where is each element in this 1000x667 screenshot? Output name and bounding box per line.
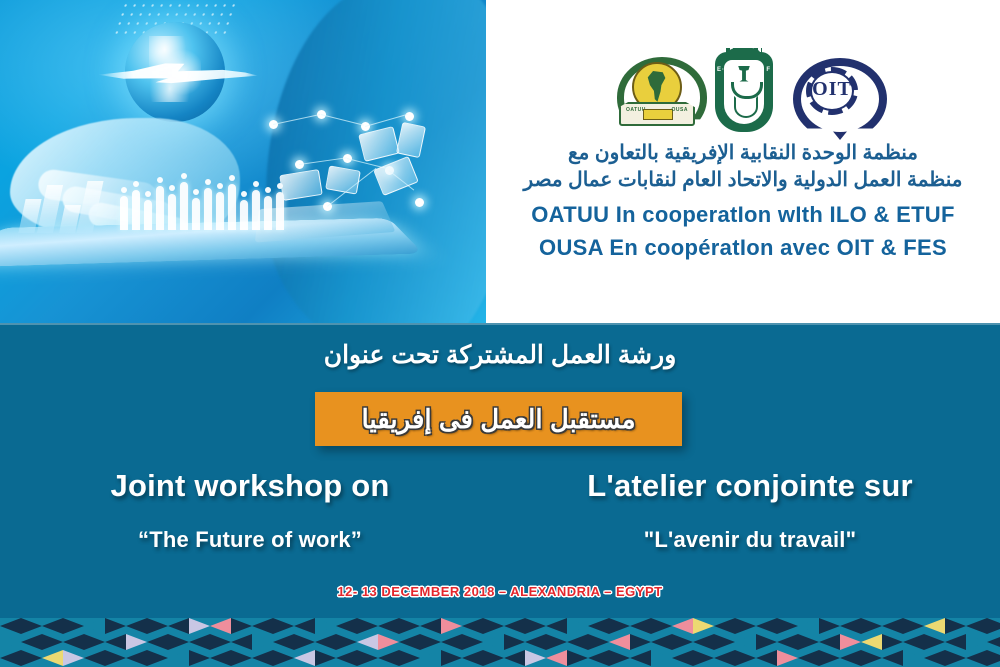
triangle-tile: [252, 618, 273, 634]
triangle-tile: [168, 650, 189, 666]
triangle-tile: [504, 618, 525, 634]
triangle-tile: [378, 618, 399, 634]
triangle-tile: [294, 634, 315, 650]
triangle-tile: [105, 650, 126, 666]
triangle-tile: [231, 650, 252, 666]
triangle-tile: [21, 650, 42, 666]
triangle-tile: [861, 618, 882, 634]
triangle-tile: [525, 634, 546, 650]
triangle-tile: [987, 650, 1000, 666]
triangle-tile: [0, 634, 21, 650]
triangle-tile: [42, 618, 63, 634]
org-french-line: OUSA En coopératIon avec OIT & FES: [486, 231, 1000, 264]
triangle-tile: [630, 650, 651, 666]
triangle-tile: [189, 650, 210, 666]
triangle-tile: [945, 634, 966, 650]
triangle-tile: [63, 634, 84, 650]
triangle-tile: [420, 650, 441, 666]
triangle-tile: [693, 650, 714, 666]
triangle-tile: [315, 650, 336, 666]
triangle-tile: [903, 634, 924, 650]
triangle-tile: [126, 634, 147, 650]
triangle-tile: [42, 634, 63, 650]
triangle-tile: [84, 634, 105, 650]
triangle-tile: [168, 618, 189, 634]
triangle-tile: [504, 650, 525, 666]
triangle-tile: [630, 618, 651, 634]
triangle-tile: [735, 618, 756, 634]
triangle-tile: [483, 634, 504, 650]
org-arabic-line-1: منظمة الوحدة النقابية الإفريقية بالتعاون…: [486, 140, 1000, 167]
triangle-tile: [609, 634, 630, 650]
triangle-row: [0, 618, 1000, 634]
triangle-tile: [273, 650, 294, 666]
organisation-names: منظمة الوحدة النقابية الإفريقية بالتعاون…: [486, 140, 1000, 264]
triangle-tile: [105, 634, 126, 650]
chart-bars-icon: [22, 175, 114, 233]
triangle-tile: [357, 634, 378, 650]
triangle-tile: [693, 618, 714, 634]
organisations-block: OATUU OUSA E·T·U F: [486, 0, 1000, 323]
oatuu-ribbon-right: OUSA: [672, 107, 688, 113]
etuf-letters-right: F: [766, 66, 771, 75]
triangle-tile: [861, 634, 882, 650]
triangle-tile: [0, 618, 21, 634]
triangle-tile: [588, 650, 609, 666]
etuf-logo: E·T·U F: [715, 52, 773, 132]
triangle-tile: [525, 650, 546, 666]
triangle-tile: [252, 650, 273, 666]
triangle-tile: [819, 634, 840, 650]
triangle-tile: [0, 650, 21, 666]
triangle-tile: [147, 618, 168, 634]
triangle-tile: [924, 634, 945, 650]
triangle-tile: [924, 618, 945, 634]
wheat-icon: [734, 96, 758, 118]
oatuu-ribbon-center: [643, 109, 673, 120]
triangle-tile: [189, 618, 210, 634]
triangle-tile: [357, 618, 378, 634]
org-arabic-line-2: منظمة العمل الدولية والاتحاد العام لنقاب…: [486, 167, 1000, 194]
triangle-tile: [567, 618, 588, 634]
oit-acronym: OIT: [791, 78, 873, 101]
triangle-tile: [483, 618, 504, 634]
triangle-tile: [798, 650, 819, 666]
triangle-tile: [903, 650, 924, 666]
triangle-tile: [882, 650, 903, 666]
triangle-tile: [777, 650, 798, 666]
triangle-tile: [378, 634, 399, 650]
triangle-tile: [966, 618, 987, 634]
triangle-tile: [189, 634, 210, 650]
triangle-tile: [462, 634, 483, 650]
triangle-tile: [756, 650, 777, 666]
triangle-tile: [462, 618, 483, 634]
triangle-tile: [336, 650, 357, 666]
french-column: L'atelier conjointe sur "L'avenir du tra…: [500, 468, 1000, 553]
triangle-row: [0, 650, 1000, 666]
oatuu-ousa-logo: OATUU OUSA: [613, 54, 697, 132]
triangle-tile: [588, 634, 609, 650]
event-poster: OATUU OUSA E·T·U F: [0, 0, 1000, 667]
triangle-tile: [210, 634, 231, 650]
triangle-tile: [651, 650, 672, 666]
triangle-tile: [945, 650, 966, 666]
workshop-title-banner: مستقبل العمل فى إفريقيا: [315, 392, 682, 446]
logo-row: OATUU OUSA E·T·U F: [486, 52, 1000, 132]
triangle-tile: [315, 618, 336, 634]
hero-photo: [0, 0, 486, 323]
triangle-tile: [651, 634, 672, 650]
triangle-tile: [714, 618, 735, 634]
triangle-tile: [630, 634, 651, 650]
poster-header: OATUU OUSA E·T·U F: [0, 0, 1000, 323]
triangle-tile: [420, 618, 441, 634]
triangle-tile: [987, 634, 1000, 650]
triangle-tile: [945, 618, 966, 634]
triangle-tile: [420, 634, 441, 650]
english-column: Joint workshop on “The Future of work”: [0, 468, 500, 553]
french-subtitle: "L'avenir du travail": [500, 527, 1000, 553]
triangle-tile: [714, 650, 735, 666]
triangle-tile: [399, 650, 420, 666]
triangle-tile: [546, 634, 567, 650]
triangle-tile: [273, 618, 294, 634]
triangle-tile: [231, 618, 252, 634]
triangle-tile: [966, 650, 987, 666]
network-nodes-icon: [265, 110, 455, 230]
triangle-tile: [378, 650, 399, 666]
triangle-tile: [903, 618, 924, 634]
triangle-tile: [588, 618, 609, 634]
triangle-tile: [609, 650, 630, 666]
etuf-letters-left: E·T·U: [717, 66, 738, 75]
oatuu-ribbon: OATUU OUSA: [619, 102, 695, 126]
triangle-tile: [672, 634, 693, 650]
triangle-tile: [315, 634, 336, 650]
triangle-tile: [567, 650, 588, 666]
triangle-tile: [504, 634, 525, 650]
triangle-tile: [21, 618, 42, 634]
triangle-tile: [693, 634, 714, 650]
workshop-arabic-intro: ورشة العمل المشتركة تحت عنوان: [0, 340, 1000, 370]
triangle-tile: [441, 650, 462, 666]
triangle-tile: [882, 634, 903, 650]
triangle-tile: [525, 618, 546, 634]
africa-map-icon: [646, 71, 668, 103]
triangle-tile: [840, 634, 861, 650]
triangle-tile: [651, 618, 672, 634]
triangle-tile: [483, 650, 504, 666]
poster-body: ورشة العمل المشتركة تحت عنوان مستقبل الع…: [0, 323, 1000, 618]
triangle-tile: [861, 650, 882, 666]
language-columns: Joint workshop on “The Future of work” L…: [0, 468, 1000, 553]
triangle-tile: [966, 634, 987, 650]
triangle-tile: [924, 650, 945, 666]
triangle-tile: [336, 618, 357, 634]
triangle-tile: [147, 650, 168, 666]
triangle-tile: [987, 618, 1000, 634]
triangle-row: [0, 634, 1000, 650]
triangle-tile: [567, 634, 588, 650]
triangle-tile: [609, 618, 630, 634]
triangle-tile: [84, 618, 105, 634]
triangle-tile: [798, 634, 819, 650]
triangle-tile: [714, 634, 735, 650]
triangle-tile: [819, 618, 840, 634]
triangle-tile: [105, 618, 126, 634]
oit-ilo-logo: OIT: [791, 54, 873, 132]
triangle-tile: [546, 650, 567, 666]
triangle-tile: [336, 634, 357, 650]
triangle-tile: [126, 650, 147, 666]
triangle-tile: [126, 618, 147, 634]
triangle-tile: [882, 618, 903, 634]
triangle-tile: [210, 618, 231, 634]
triangle-tile: [273, 634, 294, 650]
triangle-tile: [294, 618, 315, 634]
triangle-tile: [63, 650, 84, 666]
triangle-tile: [546, 618, 567, 634]
triangle-tile: [441, 618, 462, 634]
triangle-tile: [462, 650, 483, 666]
org-english-line: OATUU In cooperatIon wIth ILO & ETUF: [486, 198, 1000, 231]
triangle-tile: [735, 634, 756, 650]
triangle-tile: [294, 650, 315, 666]
triangle-tile: [672, 650, 693, 666]
triangle-tile: [777, 634, 798, 650]
triangle-tile: [147, 634, 168, 650]
triangle-tile: [798, 618, 819, 634]
triangle-tile: [84, 650, 105, 666]
triangle-tile: [756, 634, 777, 650]
english-heading: Joint workshop on: [0, 468, 500, 504]
triangle-tile: [777, 618, 798, 634]
triangle-tile: [63, 618, 84, 634]
decorative-triangle-band: [0, 618, 1000, 667]
triangle-tile: [819, 650, 840, 666]
triangle-tile: [399, 634, 420, 650]
triangle-tile: [210, 650, 231, 666]
triangle-tile: [672, 618, 693, 634]
french-heading: L'atelier conjointe sur: [500, 468, 1000, 504]
triangle-tile: [840, 618, 861, 634]
triangle-tile: [441, 634, 462, 650]
people-silhouettes-icon: [118, 168, 286, 230]
triangle-tile: [21, 634, 42, 650]
triangle-tile: [840, 650, 861, 666]
triangle-tile: [399, 618, 420, 634]
english-subtitle: “The Future of work”: [0, 527, 500, 553]
triangle-tile: [42, 650, 63, 666]
triangle-tile: [168, 634, 189, 650]
triangle-tile: [735, 650, 756, 666]
date-location-line: 12- 13 DECEMBER 2018 – ALEXANDRIA – EGYP…: [0, 584, 1000, 599]
workshop-arabic-title: مستقبل العمل فى إفريقيا: [362, 404, 636, 435]
triangle-tile: [231, 634, 252, 650]
triangle-tile: [756, 618, 777, 634]
triangle-tile: [252, 634, 273, 650]
triangle-tile: [357, 650, 378, 666]
